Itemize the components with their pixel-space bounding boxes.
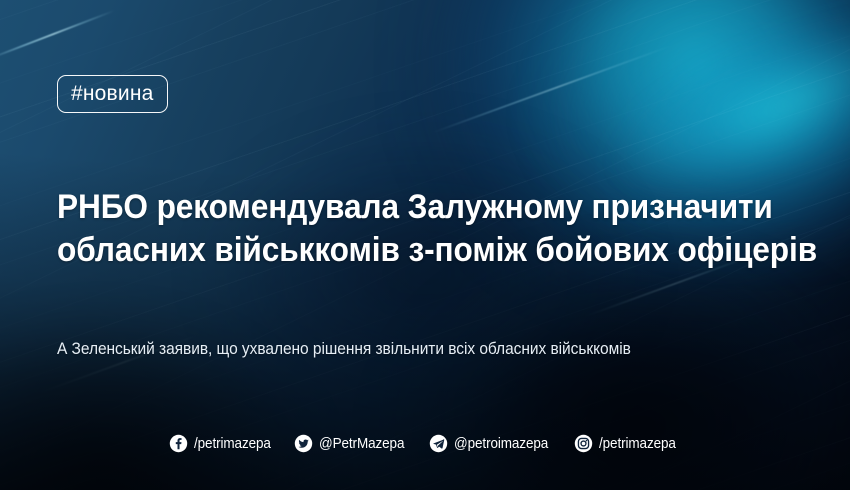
social-link-facebook[interactable]: /petrimazepa bbox=[169, 434, 277, 453]
facebook-icon bbox=[169, 434, 188, 453]
card-content: #новина РНБО рекомендувала Залужному при… bbox=[0, 0, 850, 490]
instagram-icon bbox=[574, 434, 593, 453]
social-handle-twitter: @PetrMazepa bbox=[319, 436, 404, 452]
twitter-icon bbox=[294, 434, 313, 453]
page-title-line-1: РНБО рекомендувала Залужному призначити bbox=[57, 186, 764, 229]
social-handle-instagram: /petrimazepa bbox=[599, 436, 676, 452]
category-badge[interactable]: #новина bbox=[57, 75, 168, 113]
social-links-bar: /petrimazepa @PetrMazepa bbox=[0, 434, 850, 453]
page-subtitle: А Зеленський заявив, що ухвалено рішення… bbox=[57, 338, 790, 360]
page-title-line-2: обласних військкомів з-поміж бойових офі… bbox=[57, 229, 764, 272]
page-title: РНБО рекомендувала Залужному призначити … bbox=[57, 186, 764, 272]
social-link-telegram[interactable]: @petroimazepa bbox=[429, 434, 555, 453]
social-link-instagram[interactable]: /petrimazepa bbox=[574, 434, 682, 453]
category-badge-label: #новина bbox=[71, 82, 154, 106]
news-card: #новина РНБО рекомендувала Залужному при… bbox=[0, 0, 850, 490]
social-handle-facebook: /petrimazepa bbox=[194, 436, 271, 452]
telegram-icon bbox=[429, 434, 448, 453]
social-handle-telegram: @petroimazepa bbox=[454, 436, 548, 452]
social-link-twitter[interactable]: @PetrMazepa bbox=[294, 434, 411, 453]
